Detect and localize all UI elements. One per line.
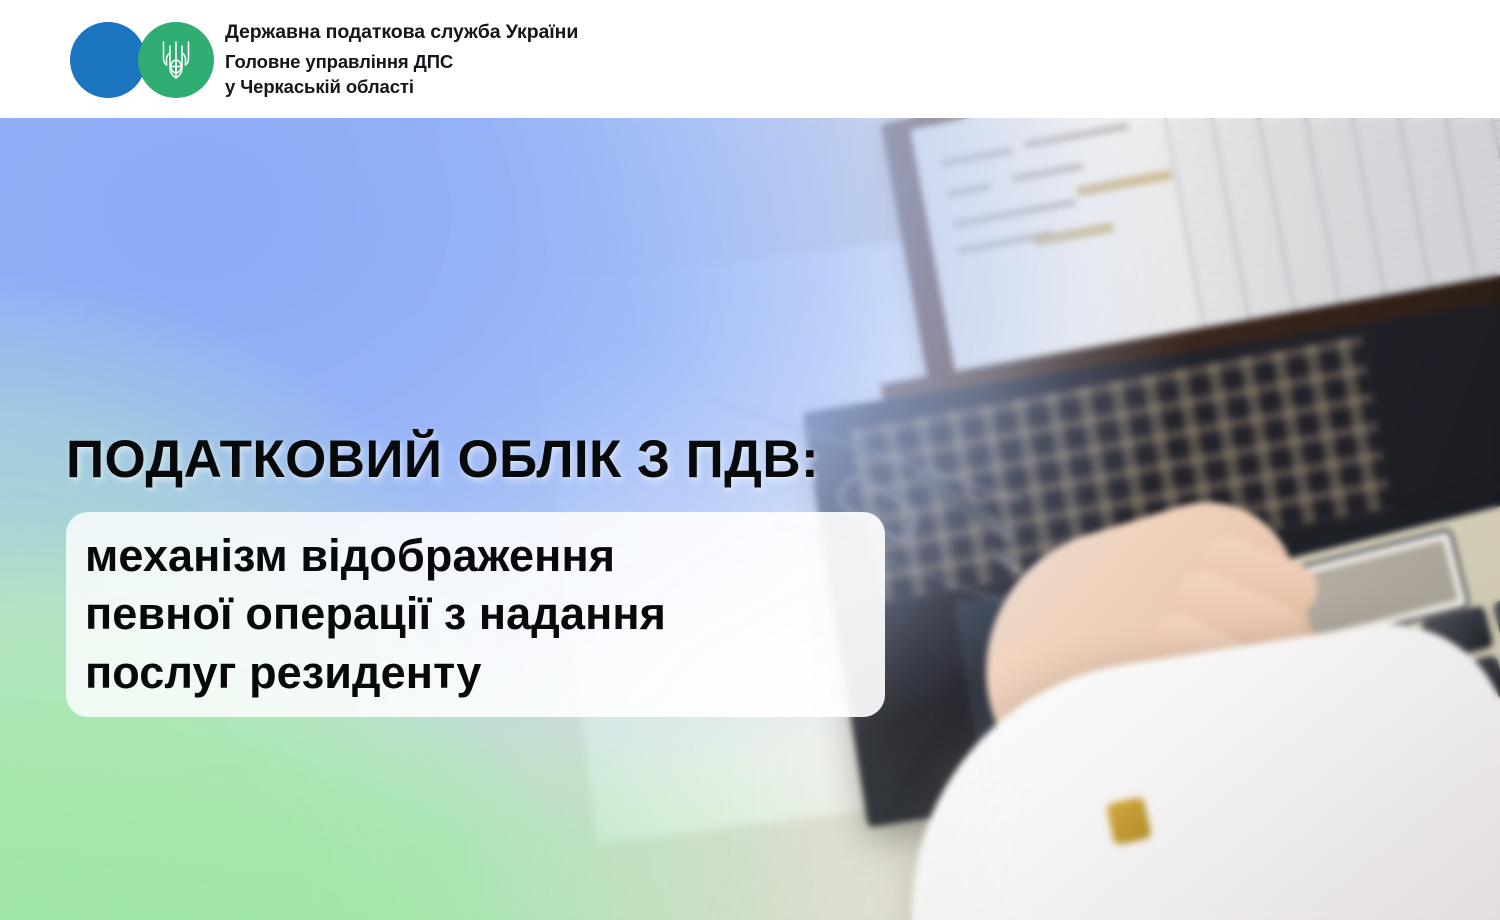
ukraine-trident-icon	[159, 38, 193, 82]
header-band: Державна податкова служба України Головн…	[0, 0, 1500, 118]
organization-title: Державна податкова служба України	[225, 20, 785, 44]
subtitle-text: механізм відображення певної операції з …	[85, 527, 666, 703]
logo-green-circle-icon	[138, 22, 214, 98]
organization-name: Державна податкова служба України Головн…	[225, 20, 785, 99]
page-title: ПОДАТКОВИЙ ОБЛІК З ПДВ:	[66, 432, 819, 488]
subtitle-panel: механізм відображення певної операції з …	[66, 512, 885, 717]
tax-service-banner: ПОДАТКОВИЙ ОБЛІК З ПДВ: механізм відобра…	[0, 0, 1500, 920]
logo-blue-circle-icon	[70, 22, 146, 98]
organization-logo[interactable]	[70, 22, 210, 98]
spreadsheet-text-blocks	[934, 118, 1199, 316]
organization-subtitle: Головне управління ДПС у Черкаській обла…	[225, 50, 785, 99]
